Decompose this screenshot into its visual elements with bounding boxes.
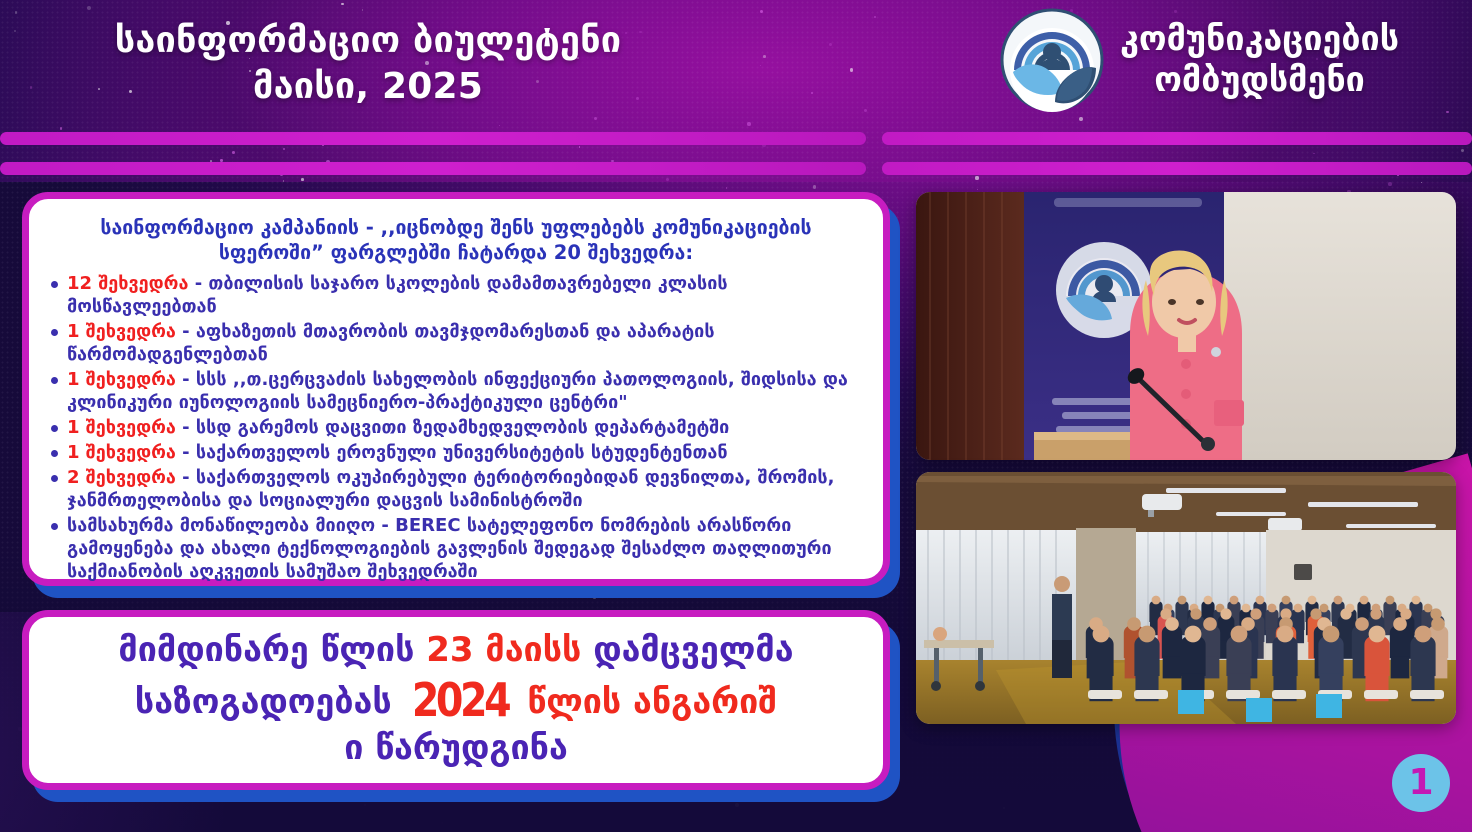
- campaign-summary-card: საინფორმაციო კამპანიის - ,,იცნობდე შენს …: [22, 192, 890, 586]
- annual-report-year: 2024: [411, 672, 507, 728]
- annual-report-line1: მიმდინარე წლის 23 მაისს დამცველმა: [118, 630, 793, 670]
- page-number-badge: 1: [1392, 754, 1450, 812]
- meeting-list: 12 შეხვედრა - თბილისის საჯარო სკოლების დ…: [45, 272, 867, 583]
- annual-report-line2-suffix: წლის ანგარიშ: [516, 682, 778, 722]
- meeting-description: - სსს ,,თ.ცერცვაძის სახელობის ინფექციური…: [67, 369, 848, 413]
- brand-name: კომუნიკაციების ომბუდსმენი: [1120, 19, 1399, 102]
- meeting-count-highlight: 1 შეხვედრა: [67, 369, 176, 390]
- campaign-summary-title: საინფორმაციო კამპანიის - ,,იცნობდე შენს …: [45, 213, 867, 272]
- meeting-description: - საქართველოს ეროვნული უნივერსიტეტის სტუ…: [176, 442, 728, 463]
- speaker-photo: [916, 192, 1456, 460]
- meeting-count-highlight: 1 შეხვედრა: [67, 442, 176, 463]
- divider-bar-left-bottom: [0, 162, 866, 175]
- brand-block: კომუნიკაციების ომბუდსმენი: [1000, 8, 1399, 112]
- meeting-list-item: 2 შეხვედრა - საქართველოს ოკუპირებული ტერ…: [45, 466, 867, 512]
- meeting-count-highlight: 12 შეხვედრა: [67, 273, 188, 294]
- brand-name-line2: ომბუდსმენი: [1120, 60, 1399, 101]
- ombudsman-logo-icon: [1000, 8, 1104, 112]
- meeting-list-item: 1 შეხვედრა - სსს ,,თ.ცერცვაძის სახელობის…: [45, 368, 867, 414]
- divider-bar-left-top: [0, 132, 866, 145]
- brand-name-line1: კომუნიკაციების: [1120, 19, 1399, 60]
- report-date: 23 მაისს: [426, 630, 581, 670]
- meeting-count-highlight: 1 შეხვედრა: [67, 417, 176, 438]
- annual-report-line2-prefix: საზოგადოებას: [135, 682, 404, 722]
- divider-bar-right-top: [882, 132, 1472, 145]
- page-title-line1: საინფორმაციო ბიულეტენი: [0, 18, 736, 64]
- audience-photo: [916, 472, 1456, 724]
- meeting-description: სამსახურმა მონაწილეობა მიიღო - BEREC სატ…: [67, 515, 832, 582]
- meeting-list-item: 1 შეხვედრა - სსდ გარემოს დაცვითი ზედამხე…: [45, 416, 867, 439]
- meeting-description: - სსდ გარემოს დაცვითი ზედამხედველობის დე…: [176, 417, 729, 438]
- meeting-count-highlight: 1 შეხვედრა: [67, 321, 176, 342]
- meeting-list-item: 1 შეხვედრა - საქართველოს ეროვნული უნივერ…: [45, 441, 867, 464]
- meeting-list-item: 12 შეხვედრა - თბილისის საჯარო სკოლების დ…: [45, 272, 867, 318]
- meeting-count-highlight: 2 შეხვედრა: [67, 467, 176, 488]
- divider-bar-right-bottom: [882, 162, 1472, 175]
- slide-root: საინფორმაციო ბიულეტენი მაისი, 2025 კომუნ…: [0, 0, 1472, 832]
- annual-report-line3: ი წარუდგინა: [344, 728, 568, 768]
- annual-report-text: მიმდინარე წლის 23 მაისს დამცველმა საზოგა…: [118, 630, 793, 769]
- meeting-description: - საქართველოს ოკუპირებული ტერიტორიებიდან…: [67, 467, 835, 511]
- page-title-line2: მაისი, 2025: [0, 64, 736, 110]
- page-title: საინფორმაციო ბიულეტენი მაისი, 2025: [0, 18, 736, 110]
- annual-report-card: მიმდინარე წლის 23 მაისს დამცველმა საზოგა…: [22, 610, 890, 790]
- meeting-list-item: 1 შეხვედრა - აფხაზეთის მთავრობის თავმჯდო…: [45, 320, 867, 366]
- meeting-list-item: სამსახურმა მონაწილეობა მიიღო - BEREC სატ…: [45, 514, 867, 583]
